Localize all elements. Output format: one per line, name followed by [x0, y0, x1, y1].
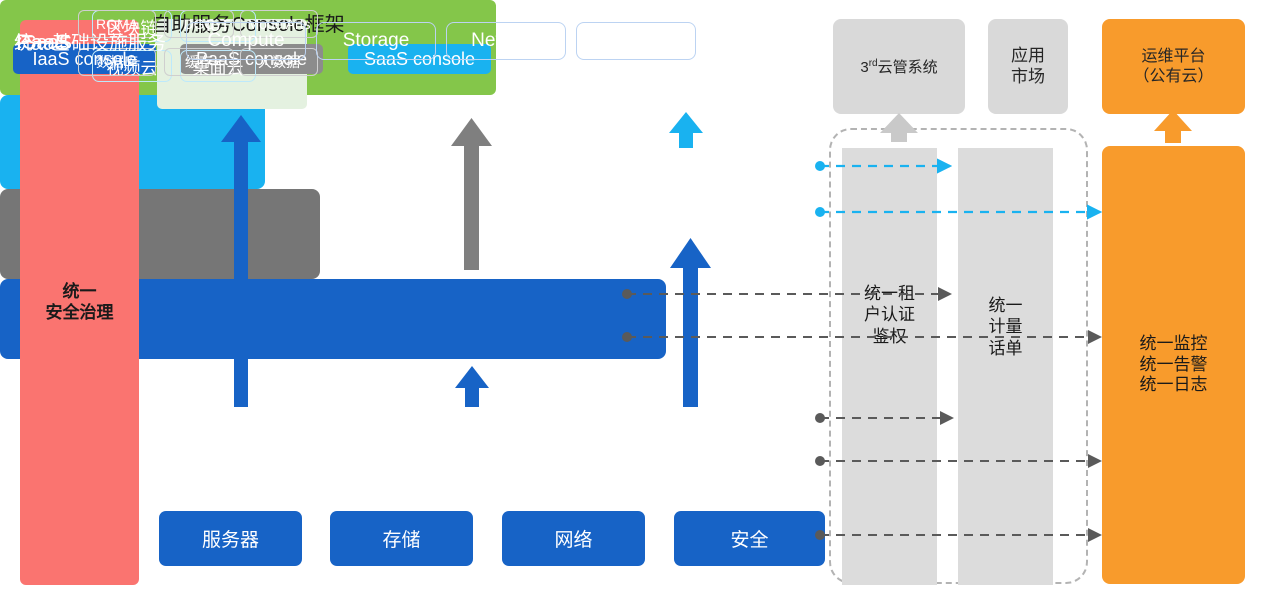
hardware-label: 服务器: [202, 525, 259, 552]
billing-label: 统一 计量 话单: [958, 295, 1053, 359]
infra-chip-storage[interactable]: Storage: [316, 22, 436, 60]
arrow-saas-to-saas-console: [669, 112, 703, 148]
arrow-to-ops-platform: [1154, 110, 1192, 143]
arrow-paas-to-console: [451, 118, 492, 270]
security-governance-panel: 统一 安全治理: [20, 20, 139, 585]
infra-chip-network[interactable]: Network: [446, 22, 566, 60]
hardware-label: 网络: [554, 525, 592, 552]
app-market-box: 应用 市场: [988, 19, 1068, 114]
ops-platform-label: 运维平台 （公有云）: [1133, 47, 1213, 86]
arrow-infra-to-paas: [455, 366, 489, 407]
third-party-cloud-mgmt-label: 3rd云管系统: [860, 56, 937, 77]
tenant-auth-column: [842, 148, 937, 585]
ops-platform-box: 运维平台 （公有云）: [1102, 19, 1245, 114]
hardware-label: 安全: [730, 525, 768, 552]
security-governance-label: 统一 安全治理: [46, 282, 114, 323]
infra-chip-compute[interactable]: Compute: [186, 22, 306, 60]
app-market-label: 应用 市场: [1011, 46, 1045, 87]
ops-monitoring-label: 统一监控 统一告警 统一日志: [1140, 334, 1208, 396]
infra-chip-cce[interactable]: CCE: [576, 22, 696, 60]
arrow-infra-to-saas: [670, 238, 711, 407]
third-party-cloud-mgmt-box: 3rd云管系统: [833, 19, 965, 114]
ops-monitoring-panel: 统一监控 统一告警 统一日志: [1102, 146, 1245, 584]
billing-column: [958, 148, 1053, 585]
hardware-box-server: 服务器: [159, 511, 302, 566]
architecture-diagram: 统一 安全治理 API网关 自助服务Console框架 IaaS console…: [0, 0, 1265, 605]
hardware-box-security: 安全: [674, 511, 825, 566]
infrastructure-layer-title: 统一基础设施服务: [14, 28, 166, 55]
hardware-label: 存储: [382, 525, 420, 552]
tenant-auth-label: 统一租 户认证 鉴权: [842, 283, 937, 347]
hardware-box-storage: 存储: [330, 511, 473, 566]
hardware-box-network: 网络: [502, 511, 645, 566]
